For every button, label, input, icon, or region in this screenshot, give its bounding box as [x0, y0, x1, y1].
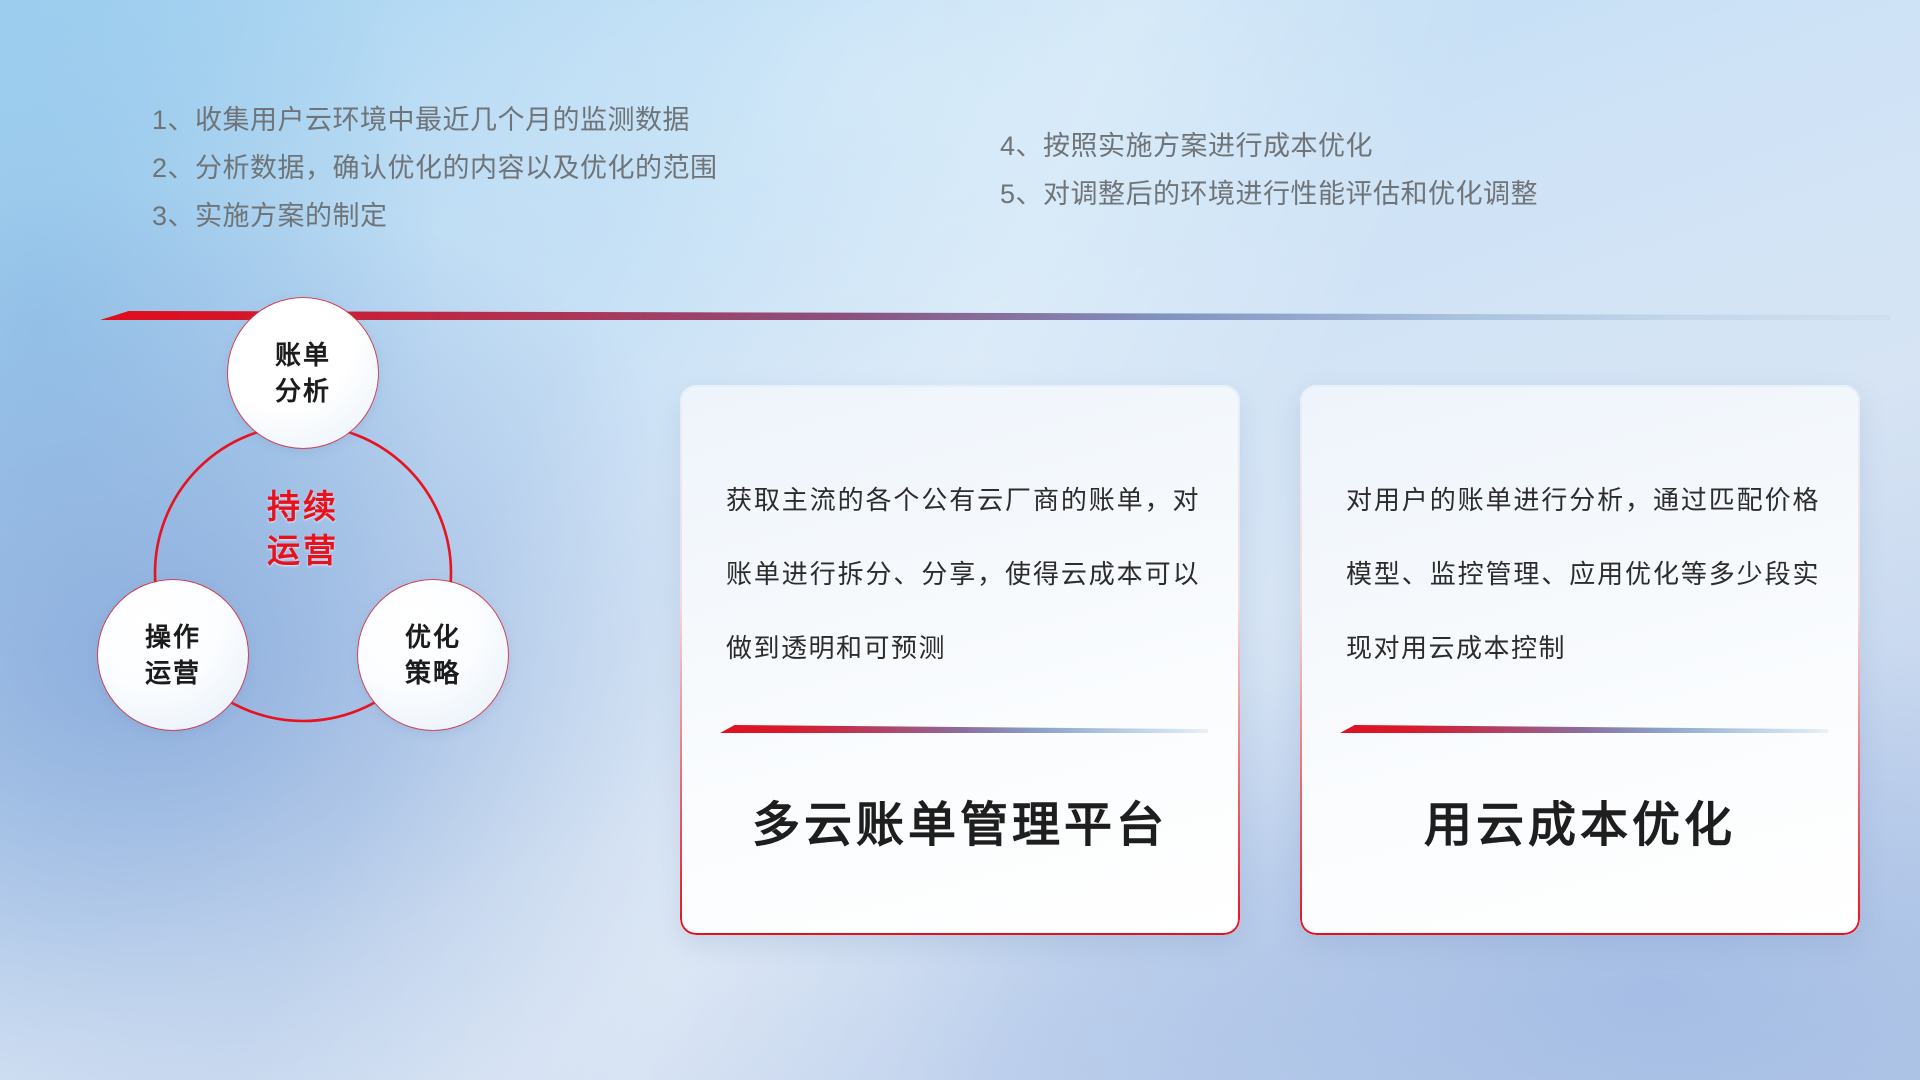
step-item-1: 1、收集用户云环境中最近几个月的监测数据	[152, 96, 718, 144]
card-title: 用云成本优化	[1300, 785, 1860, 855]
card-description: 获取主流的各个公有云厂商的账单，对账单进行拆分、分享，使得云成本可以做到透明和可…	[726, 463, 1200, 685]
card-divider	[1340, 725, 1828, 733]
steps-column-right: 4、按照实施方案进行成本优化 5、对调整后的环境进行性能评估和优化调整	[1000, 122, 1538, 218]
steps-column-left: 1、收集用户云环境中最近几个月的监测数据 2、分析数据，确认优化的内容以及优化的…	[152, 96, 718, 240]
feature-card-cloud-cost-optimization[interactable]: 对用户的账单进行分析，通过匹配价格模型、监控管理、应用优化等多少段实现对用云成本…	[1300, 385, 1860, 935]
step-item-4: 4、按照实施方案进行成本优化	[1000, 122, 1538, 170]
card-divider-gradient-bar	[720, 725, 1208, 733]
card-divider-gradient-bar	[1340, 725, 1828, 733]
node-label-line1: 操作	[145, 619, 201, 655]
diagram-node-bill-analysis[interactable]: 账单 分析	[228, 298, 378, 448]
center-label-line1: 持续	[228, 485, 378, 529]
venn-diagram: 账单 分析 操作 运营 优化 策略 持续 运营	[80, 280, 640, 910]
card-title: 多云账单管理平台	[680, 785, 1240, 855]
center-label-line2: 运营	[228, 529, 378, 573]
node-label-line2: 分析	[275, 373, 331, 409]
node-label-line1: 账单	[275, 337, 331, 373]
diagram-node-operations[interactable]: 操作 运营	[98, 580, 248, 730]
diagram-center-label: 持续 运营	[228, 485, 378, 573]
node-label-line1: 优化	[405, 619, 461, 655]
node-label-line2: 策略	[405, 655, 461, 691]
step-item-3: 3、实施方案的制定	[152, 192, 718, 240]
node-label-line2: 运营	[145, 655, 201, 691]
step-item-5: 5、对调整后的环境进行性能评估和优化调整	[1000, 170, 1538, 218]
feature-card-multicloud-billing[interactable]: 获取主流的各个公有云厂商的账单，对账单进行拆分、分享，使得云成本可以做到透明和可…	[680, 385, 1240, 935]
card-description: 对用户的账单进行分析，通过匹配价格模型、监控管理、应用优化等多少段实现对用云成本…	[1346, 463, 1820, 685]
diagram-node-optimization-strategy[interactable]: 优化 策略	[358, 580, 508, 730]
card-divider	[720, 725, 1208, 733]
step-item-2: 2、分析数据，确认优化的内容以及优化的范围	[152, 144, 718, 192]
